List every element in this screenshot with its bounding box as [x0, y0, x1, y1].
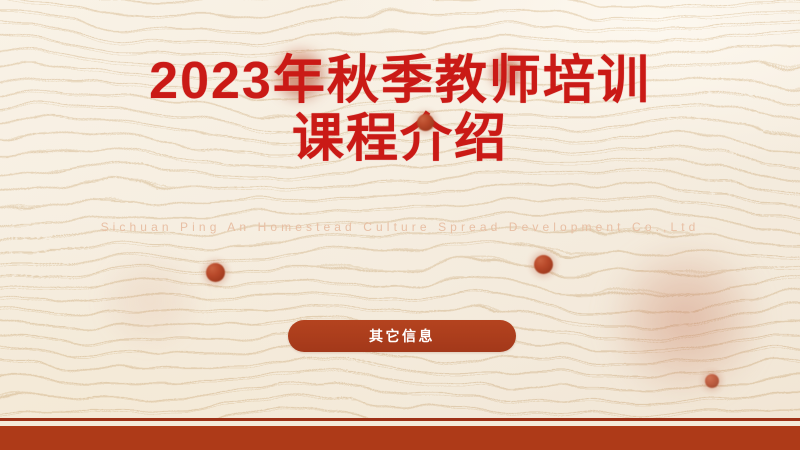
company-subtitle: Sichuan Ping An Homestead Culture Spread… [0, 220, 800, 234]
sphere-title-jie [417, 114, 434, 131]
sphere-right-mid [534, 255, 553, 274]
slide-title: 2023年秋季教师培训 课程介绍 [0, 52, 800, 168]
sphere-bottom-right [705, 374, 719, 388]
title-line-1: 2023年秋季教师培训 [0, 52, 800, 110]
sphere-left-mid [206, 263, 225, 282]
presentation-slide: 2023年秋季教师培训 课程介绍 Sichuan Ping An Homeste… [0, 0, 800, 450]
title-line-2: 课程介绍 [0, 110, 800, 168]
other-information-button[interactable]: 其它信息 [288, 320, 516, 352]
footer-color-band [0, 426, 800, 450]
